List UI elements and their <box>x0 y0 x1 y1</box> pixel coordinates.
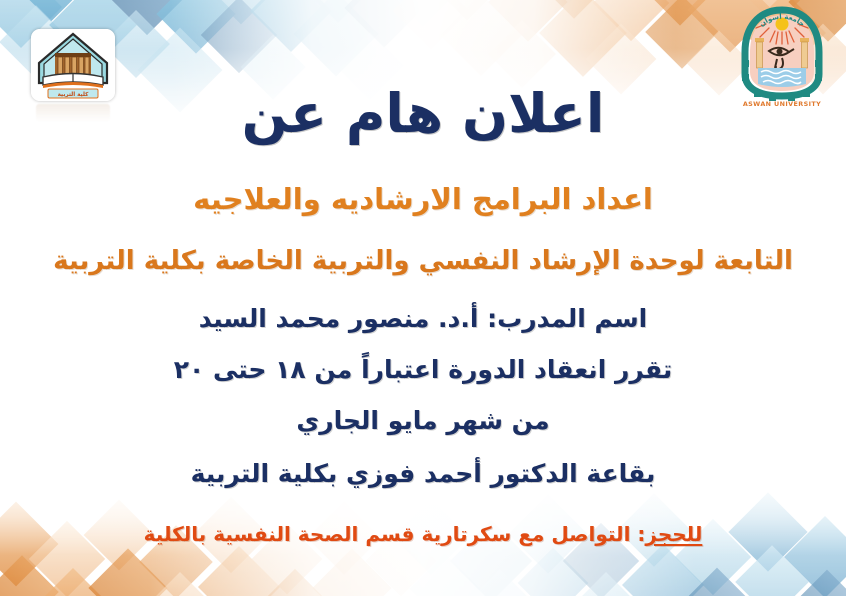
course-dates: تقرر انعقاد الدورة اعتباراً من ١٨ حتى ٢٠ <box>0 355 846 384</box>
course-venue: بقاعة الدكتور أحمد فوزي بكلية التربية <box>0 459 846 488</box>
poster-text-content: اعلان هام عن اعداد البرامج الارشاديه وال… <box>0 0 846 596</box>
program-affiliation: التابعة لوحدة الإرشاد النفسي والتربية ال… <box>0 246 846 276</box>
trainer-name: اسم المدرب: أ.د. منصور محمد السيد <box>0 304 846 333</box>
course-month: من شهر مايو الجاري <box>0 406 846 435</box>
booking-contact-text: : التواصل مع سكرتارية قسم الصحة النفسية … <box>144 522 646 546</box>
booking-label: للحجز <box>645 522 702 546</box>
booking-info: للحجز: التواصل مع سكرتارية قسم الصحة الن… <box>0 522 846 546</box>
announcement-poster: كلية التربية <box>0 0 846 596</box>
program-title: اعداد البرامج الارشاديه والعلاجيه <box>0 182 846 216</box>
page-title: اعلان هام عن <box>0 82 846 145</box>
